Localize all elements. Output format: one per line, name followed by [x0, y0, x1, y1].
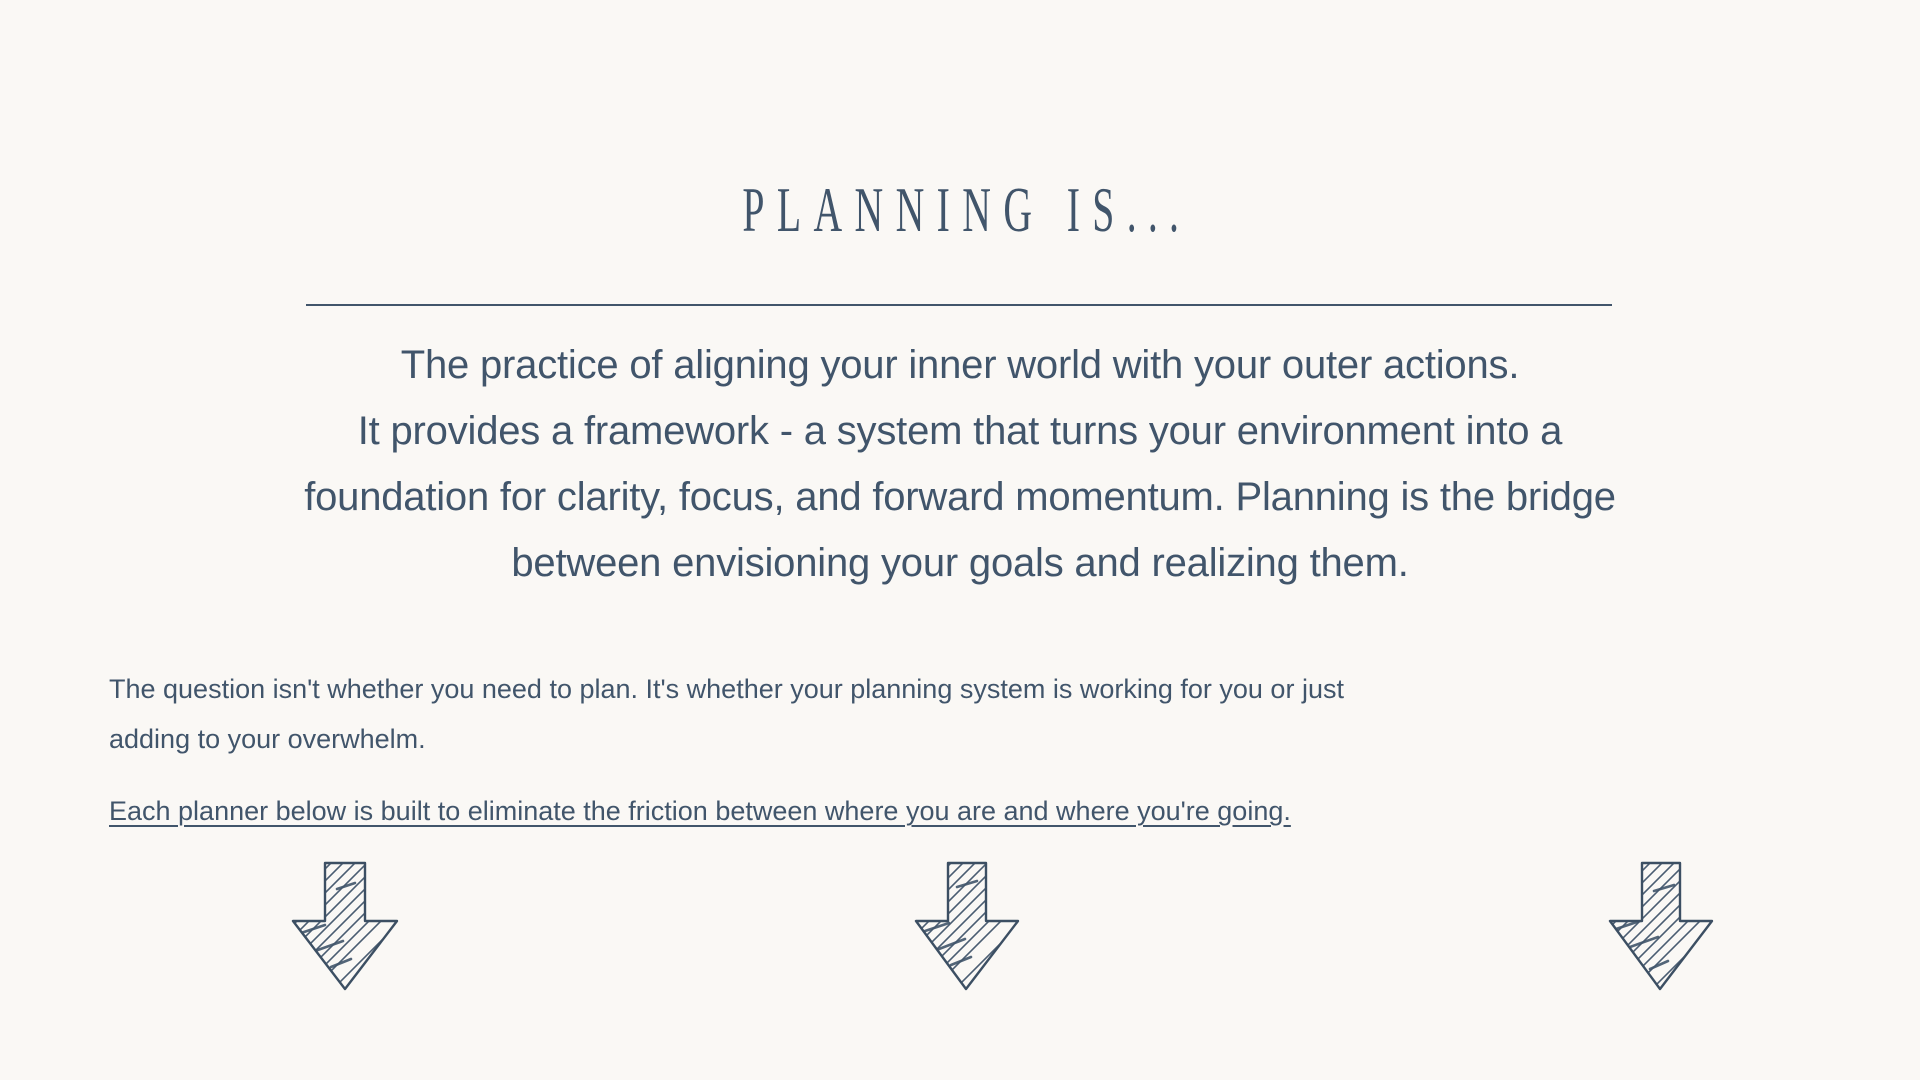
planning-is-section: PLANNING IS... The practice of aligning … — [0, 0, 1920, 1080]
lead-line-4: between envisioning your goals and reali… — [160, 530, 1760, 596]
arrow-row — [0, 855, 1920, 1015]
sketch-down-arrow-icon — [907, 855, 1027, 995]
body-paragraph: The question isn't whether you need to p… — [109, 664, 1809, 764]
body-line-2: adding to your overwhelm. — [109, 714, 1809, 764]
page-title-ellipsis: ... — [1127, 174, 1190, 245]
lead-line-2: It provides a framework - a system that … — [160, 398, 1760, 464]
lead-line-3: foundation for clarity, focus, and forwa… — [160, 464, 1760, 530]
sketch-down-arrow-icon — [285, 855, 405, 995]
lead-paragraph: The practice of aligning your inner worl… — [160, 332, 1760, 596]
sketch-down-arrow-icon — [1602, 855, 1722, 995]
callout-paragraph: Each planner below is built to eliminate… — [109, 789, 1809, 833]
lead-line-1: The practice of aligning your inner worl… — [160, 332, 1760, 398]
callout-link[interactable]: Each planner below is built to eliminate… — [109, 796, 1291, 826]
body-line-1: The question isn't whether you need to p… — [109, 664, 1809, 714]
title-divider — [306, 304, 1612, 306]
page-title-wrap: PLANNING IS... — [0, 178, 1920, 242]
page-title: PLANNING IS... — [730, 178, 1190, 242]
page-title-text: PLANNING IS — [742, 174, 1126, 245]
